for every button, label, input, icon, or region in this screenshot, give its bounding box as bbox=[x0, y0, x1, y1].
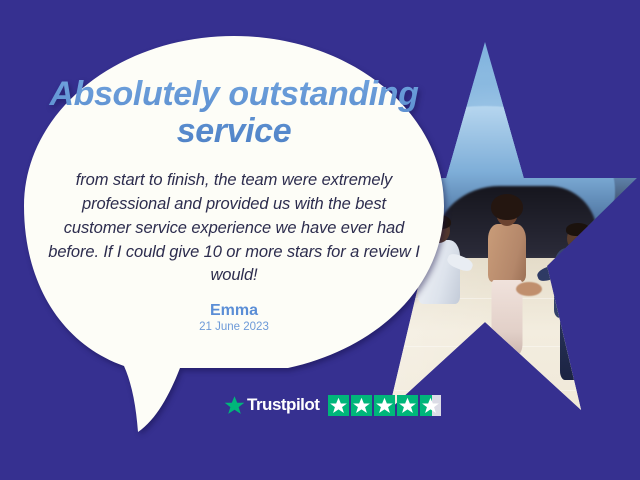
star-glyph-icon bbox=[420, 395, 441, 416]
testimonial-author: Emma bbox=[48, 302, 420, 320]
person-customer-female bbox=[479, 202, 535, 418]
trustpilot-wordmark: Trustpilot bbox=[247, 395, 319, 415]
testimonial-date: 21 June 2023 bbox=[48, 321, 420, 333]
trustpilot-star-4[interactable] bbox=[397, 395, 418, 416]
testimonial-graphic: Absolutely outstanding service from star… bbox=[0, 0, 640, 480]
handshake bbox=[516, 282, 542, 296]
trustpilot-rating-bar[interactable]: Trustpilot bbox=[224, 392, 441, 418]
speech-bubble: Absolutely outstanding service from star… bbox=[20, 34, 448, 434]
person-salesperson bbox=[547, 226, 609, 426]
trustpilot-star-2[interactable] bbox=[351, 395, 372, 416]
star-glyph-icon bbox=[328, 395, 349, 416]
trustpilot-star-rating[interactable] bbox=[328, 395, 441, 416]
testimonial-content: Absolutely outstanding service from star… bbox=[48, 76, 420, 333]
trustpilot-star-1[interactable] bbox=[328, 395, 349, 416]
trustpilot-logo[interactable]: Trustpilot bbox=[224, 395, 319, 416]
star-glyph-icon bbox=[374, 395, 395, 416]
testimonial-body: from start to finish, the team were extr… bbox=[48, 169, 420, 288]
trustpilot-star-3[interactable] bbox=[374, 395, 395, 416]
testimonial-headline: Absolutely outstanding service bbox=[48, 76, 420, 149]
star-glyph-icon bbox=[397, 395, 418, 416]
star-glyph-icon bbox=[351, 395, 372, 416]
trustpilot-star-icon bbox=[224, 395, 245, 416]
trustpilot-star-5[interactable] bbox=[420, 395, 441, 416]
